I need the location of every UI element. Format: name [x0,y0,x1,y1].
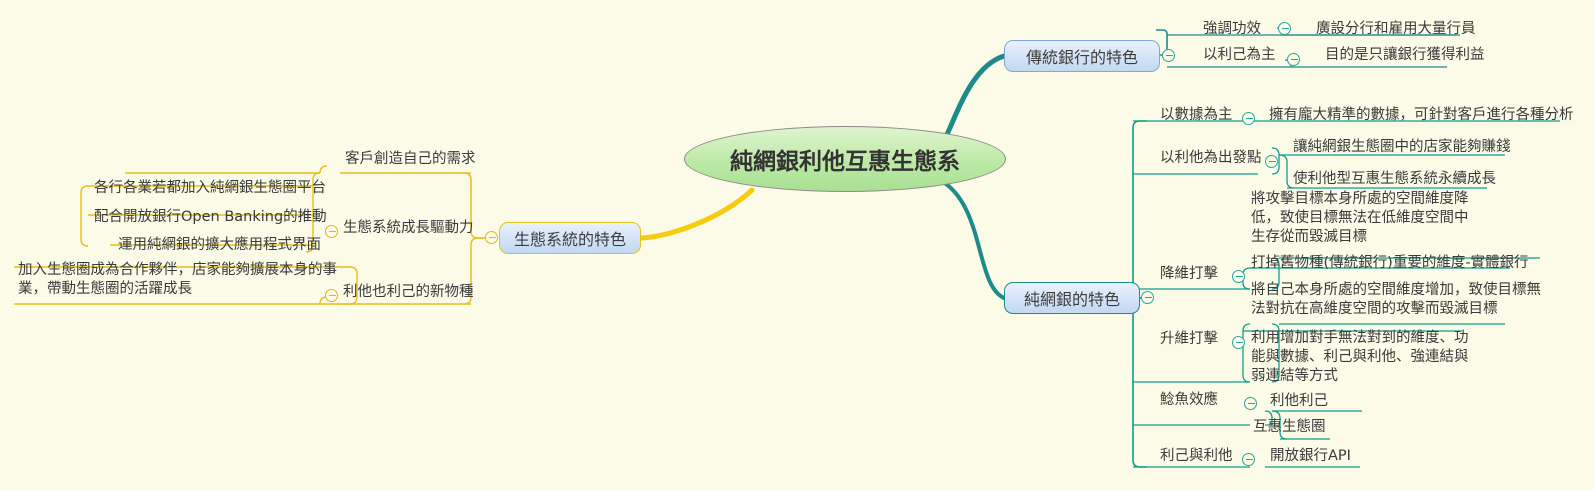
label-new-species-altruism-self[interactable]: 利他也利己的新物種 [343,283,474,302]
mindmap-canvas: 純網銀利他互惠生態系 傳統銀行的特色 強調功效 廣設分行和雇用大量行員 以利己為… [0,0,1594,490]
collapse-toggle-ecosystem-features[interactable] [485,231,498,244]
node-traditional-bank[interactable]: 傳統銀行的特色 [1004,40,1160,72]
label-all-industries-join-platform[interactable]: 各行各業若都加入純網銀生態圈平台 [94,179,326,198]
label-sustainable-mutual-ecosystem[interactable]: 使利他型互惠生態系統永續成長 [1293,170,1496,189]
node-ecosystem-features-label: 生態系統的特色 [514,226,626,250]
label-increase-unreachable-dimensions[interactable]: 利用增加對手無法對到的維度、功 能與數據、利己與利他、強連結與 弱連結等方式 [1251,329,1469,386]
label-customers-create-demand[interactable]: 客戶創造自己的需求 [345,150,476,169]
collapse-toggle-data-driven[interactable] [1242,112,1255,125]
collapse-toggle-self-and-altruism[interactable] [1242,453,1255,466]
node-traditional-bank-label: 傳統銀行的特色 [1026,44,1138,68]
collapse-toggle-ecosystem-growth-driver[interactable] [325,225,338,238]
label-bank-only-benefit[interactable]: 目的是只讓銀行獲得利益 [1325,46,1485,65]
collapse-toggle-emphasize-function[interactable] [1278,22,1291,35]
label-open-banking-api[interactable]: 開放銀行API [1270,447,1351,466]
label-self-and-altruism[interactable]: 利己與利他 [1160,447,1233,466]
collapse-toggle-dimension-reduction-attack[interactable] [1232,270,1245,283]
label-emphasize-function[interactable]: 強調功效 [1203,20,1261,39]
label-catfish-effect[interactable]: 鯰魚效應 [1160,391,1218,410]
label-data-driven[interactable]: 以數據為主 [1160,106,1233,125]
collapse-toggle-pure-internet-bank[interactable] [1141,291,1154,304]
node-ecosystem-features[interactable]: 生態系統的特色 [499,222,641,254]
central-topic-label: 純網銀利他互惠生態系 [730,142,960,176]
label-dimension-raising-attack[interactable]: 升維打擊 [1160,330,1218,349]
central-topic[interactable]: 純網銀利他互惠生態系 [684,126,1006,192]
collapse-toggle-traditional-bank[interactable] [1162,49,1175,62]
node-pure-internet-bank[interactable]: 純網銀的特色 [1004,282,1140,314]
label-altruism-starting-point[interactable]: 以利他為出發點 [1160,149,1262,168]
label-dimension-reduction-attack[interactable]: 降維打擊 [1160,265,1218,284]
collapse-toggle-self-interest-first[interactable] [1287,53,1300,66]
label-expanded-api[interactable]: 運用純網銀的擴大應用程式界面 [118,236,321,255]
label-wide-branches-staff[interactable]: 廣設分行和雇用大量行員 [1316,20,1476,39]
label-merchants-earn-money[interactable]: 讓純網銀生態圈中的店家能夠賺錢 [1293,138,1511,157]
label-destroy-physical-bank-dimension[interactable]: 打掉舊物種(傳統銀行)重要的維度-實體銀行 [1251,254,1529,273]
label-raise-own-dimension[interactable]: 將自己本身所處的空間維度增加，致使目標無 法對抗在高維度空間的攻擊而毀滅目標 [1251,281,1541,319]
label-open-banking-promotion[interactable]: 配合開放銀行Open Banking的推動 [94,208,327,227]
label-lower-target-dimension[interactable]: 將攻擊目標本身所處的空間維度降 低，致使目標無法在低維度空間中 生存從而毀滅目標 [1251,190,1469,247]
label-self-interest-first[interactable]: 以利己為主 [1203,46,1276,65]
label-ecosystem-growth-driver[interactable]: 生態系統成長驅動力 [343,219,474,238]
label-big-accurate-data[interactable]: 擁有龐大精準的數據，可針對客戶進行各種分析 [1269,106,1574,125]
collapse-toggle-altruism-starting-point[interactable] [1265,155,1278,168]
label-partners-expand-business[interactable]: 加入生態圈成為合作夥伴，店家能夠擴展本身的事 業，帶動生態圈的活躍成長 [18,261,337,299]
node-pure-internet-bank-label: 純網銀的特色 [1024,286,1120,310]
label-mutual-benefit-ecosystem[interactable]: 互惠生態圈 [1253,418,1326,437]
collapse-toggle-catfish-effect[interactable] [1244,397,1257,410]
collapse-toggle-dimension-raising-attack[interactable] [1232,336,1245,349]
label-altruism-benefits-self[interactable]: 利他利己 [1270,392,1328,411]
